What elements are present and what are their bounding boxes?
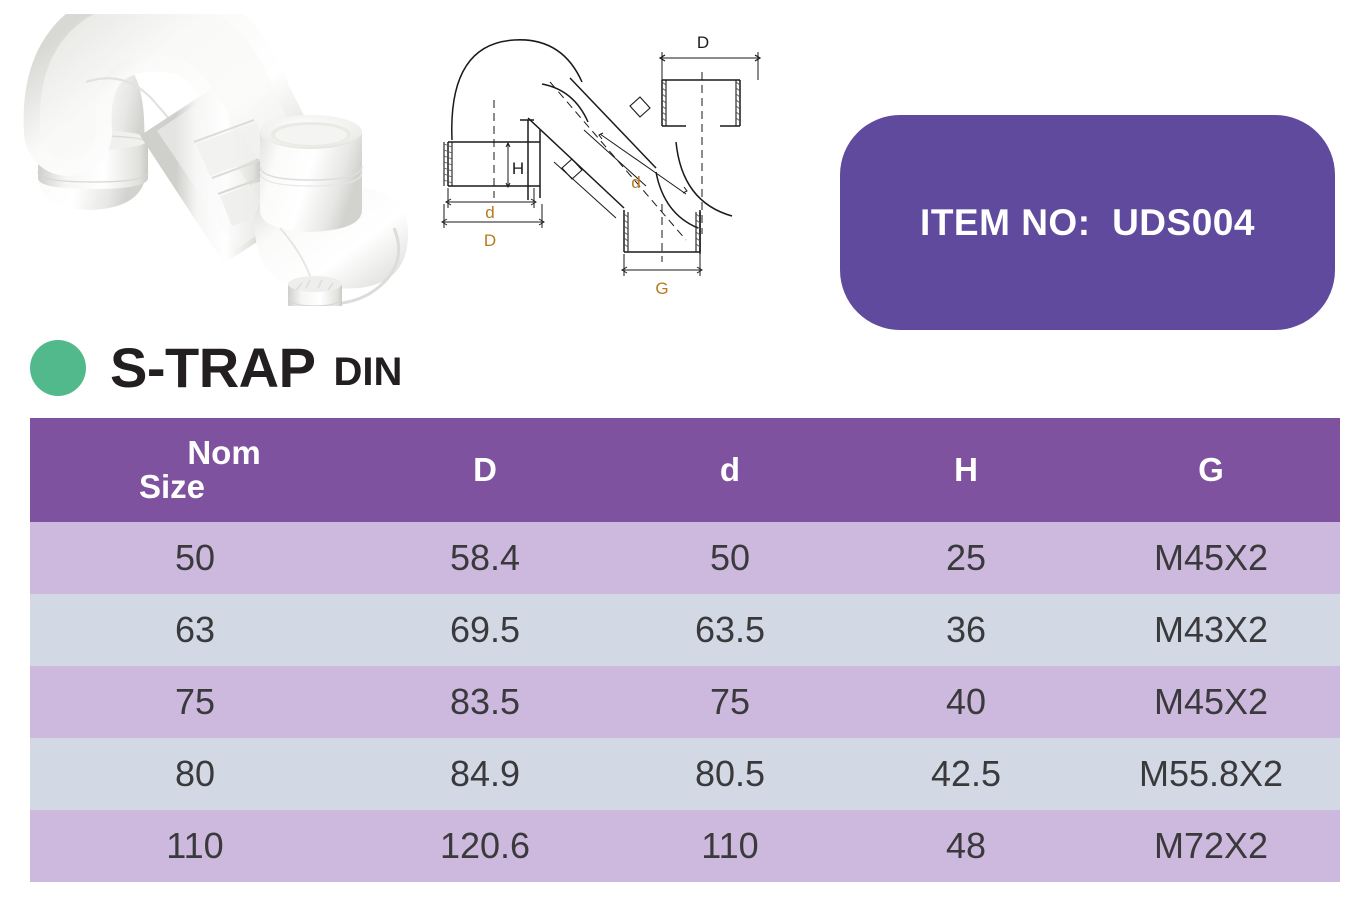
section-title: S-TRAP DIN [30, 332, 402, 404]
cell-nom-size: 50 [30, 522, 360, 594]
cell-G: M45X2 [1082, 666, 1340, 738]
cell-G: M55.8X2 [1082, 738, 1340, 810]
cell-D: 58.4 [360, 522, 610, 594]
table-header: Nom Size D d H G [30, 418, 1340, 522]
dim-label-d-mid: d [631, 173, 640, 192]
cell-d: 110 [610, 810, 850, 882]
green-circle-icon [30, 340, 86, 396]
item-no-badge: ITEM NO: UDS004 [840, 115, 1335, 330]
cell-G: M43X2 [1082, 594, 1340, 666]
cell-H: 42.5 [850, 738, 1082, 810]
cell-G: M72X2 [1082, 810, 1340, 882]
dim-label-H: H [512, 159, 524, 178]
table-row: 8084.980.542.5M55.8X2 [30, 738, 1340, 810]
nom-size-line2: Size [139, 470, 251, 504]
dim-label-D-left: D [484, 231, 496, 250]
cell-d: 50 [610, 522, 850, 594]
table-body: 5058.45025M45X26369.563.536M43X27583.575… [30, 522, 1340, 882]
table-row: 110120.611048M72X2 [30, 810, 1340, 882]
cell-D: 83.5 [360, 666, 610, 738]
column-header-H: H [850, 418, 1082, 522]
cell-nom-size: 75 [30, 666, 360, 738]
cell-nom-size: 63 [30, 594, 360, 666]
nom-size-line1: Nom [129, 436, 260, 470]
cell-H: 25 [850, 522, 1082, 594]
table-header-row: Nom Size D d H G [30, 418, 1340, 522]
column-header-d: d [610, 418, 850, 522]
table-row: 7583.57540M45X2 [30, 666, 1340, 738]
column-header-nom-size: Nom Size [30, 418, 360, 522]
cell-nom-size: 80 [30, 738, 360, 810]
dim-label-G: G [655, 279, 668, 298]
table-row: 5058.45025M45X2 [30, 522, 1340, 594]
technical-drawing: D H d D d G [424, 22, 784, 300]
column-header-D: D [360, 418, 610, 522]
product-photo: CE [8, 14, 408, 306]
cell-d: 63.5 [610, 594, 850, 666]
dim-label-d-left: d [485, 203, 494, 222]
cell-nom-size: 110 [30, 810, 360, 882]
page-title: S-TRAP [110, 340, 315, 396]
product-spec-sheet: CE [0, 0, 1368, 922]
spec-table: Nom Size D d H G 5058.45025M45X26369.563… [30, 418, 1340, 882]
column-header-G: G [1082, 418, 1340, 522]
page-subtitle: DIN [333, 345, 402, 392]
cell-d: 75 [610, 666, 850, 738]
cell-H: 36 [850, 594, 1082, 666]
dim-label-D-top: D [697, 33, 709, 52]
cell-G: M45X2 [1082, 522, 1340, 594]
cell-H: 48 [850, 810, 1082, 882]
cell-d: 80.5 [610, 738, 850, 810]
cell-D: 84.9 [360, 738, 610, 810]
item-no-label: ITEM NO: UDS004 [920, 202, 1255, 244]
cell-D: 120.6 [360, 810, 610, 882]
cell-D: 69.5 [360, 594, 610, 666]
table-row: 6369.563.536M43X2 [30, 594, 1340, 666]
cell-H: 40 [850, 666, 1082, 738]
